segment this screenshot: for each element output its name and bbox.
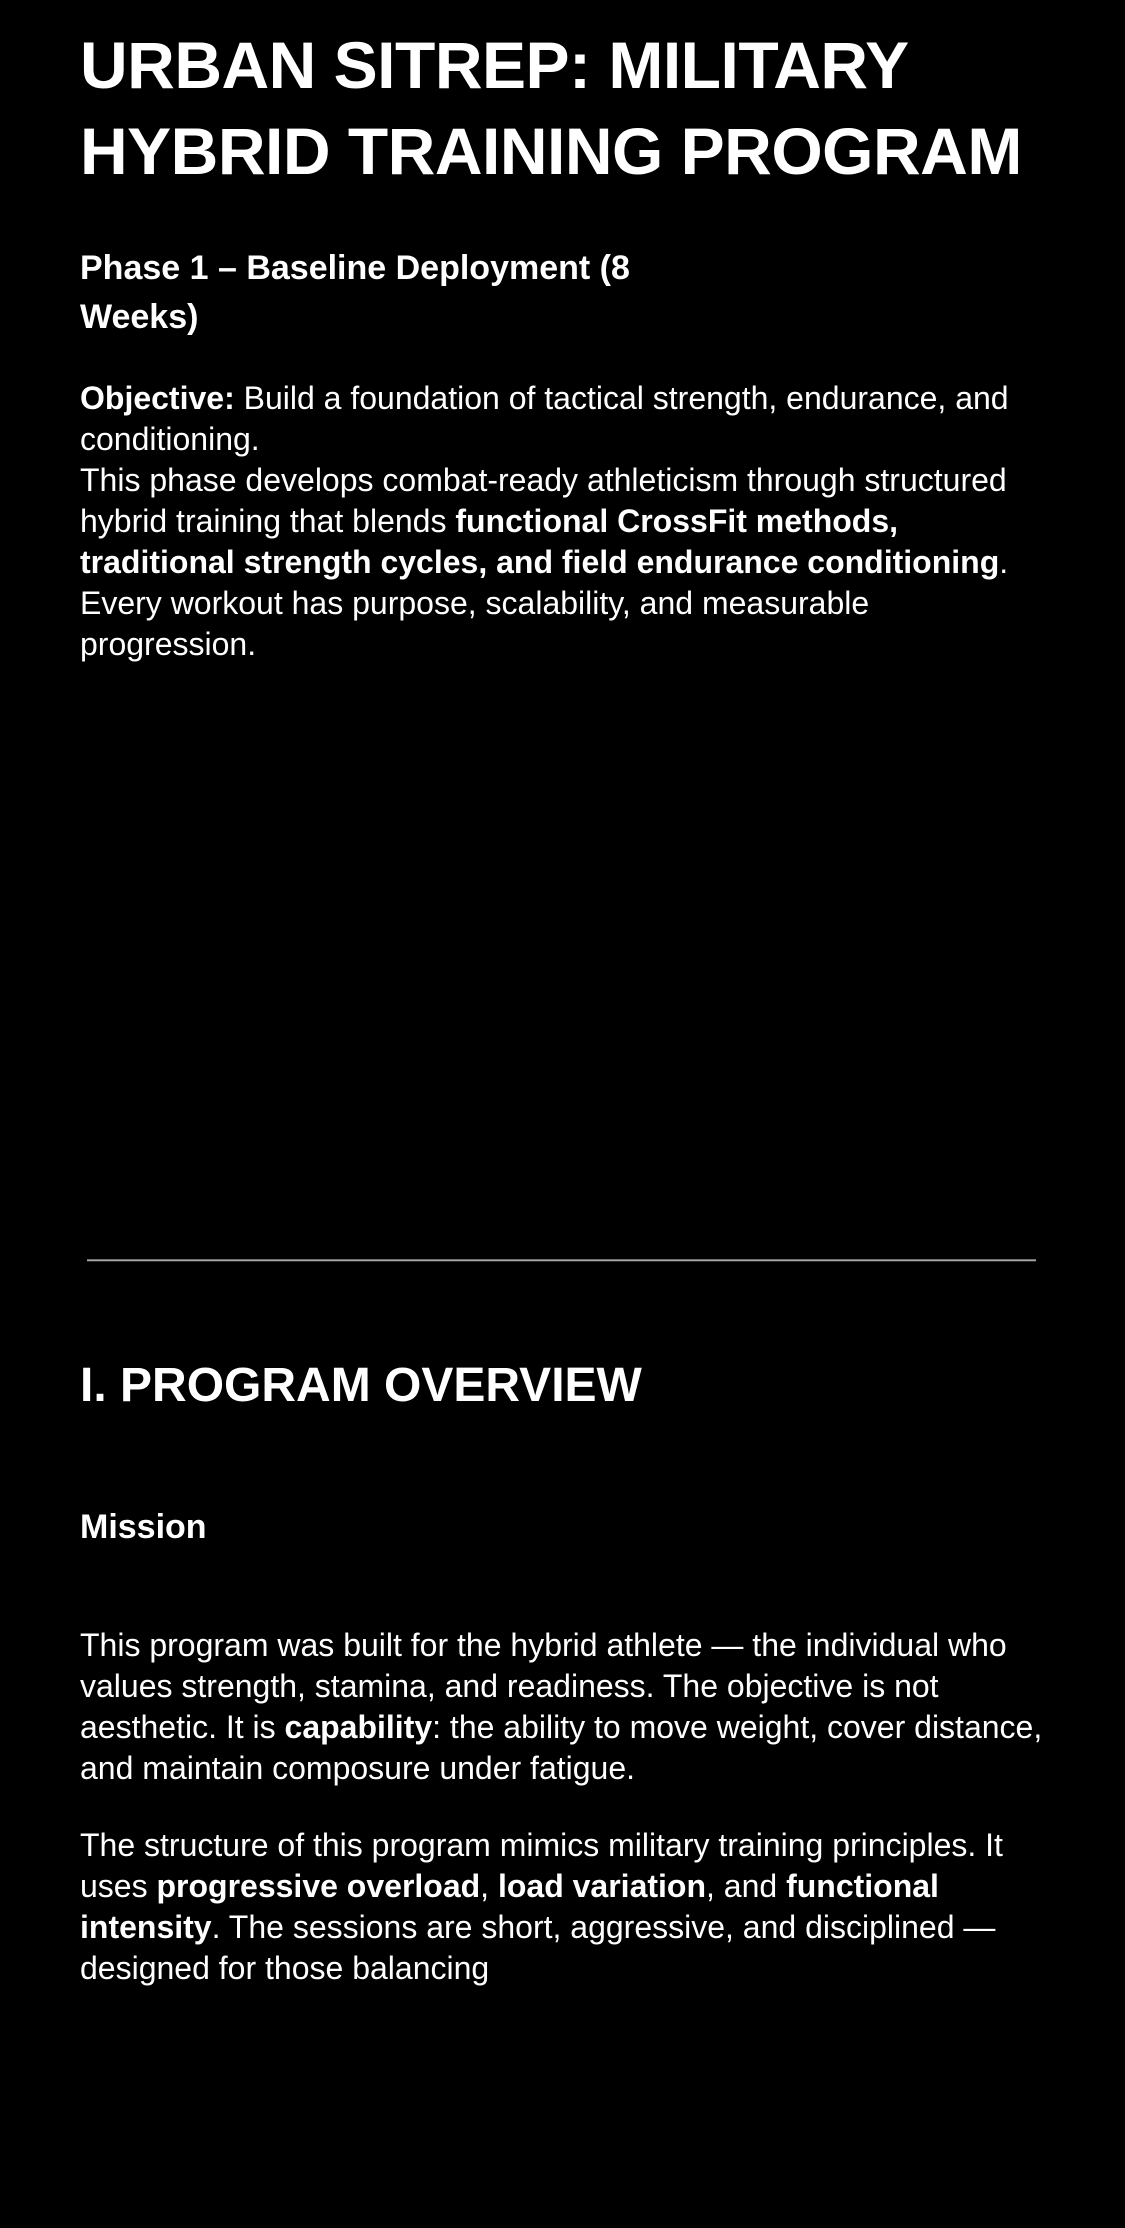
emphasis-run: capability: [285, 1709, 433, 1745]
section-divider: [87, 1259, 1036, 1262]
text-run: . The sessions are short, aggressive, an…: [80, 1909, 995, 1986]
emphasis-run: progressive overload: [156, 1868, 480, 1904]
phase-heading: Phase 1 – Baseline Deployment (8 Weeks): [80, 194, 700, 342]
text-run: , and: [706, 1868, 786, 1904]
text-run: ,: [480, 1868, 498, 1904]
mission-paragraph: The structure of this program mimics mil…: [80, 1825, 1045, 1989]
document-page: URBAN SITREP: MILITARY HYBRID TRAINING P…: [0, 0, 1125, 2228]
intro-tail: .: [999, 544, 1008, 580]
section-title-program-overview: I. PROGRAM OVERVIEW: [80, 1357, 642, 1415]
emphasis-run: load variation: [498, 1868, 706, 1904]
intro-closing: Every workout has purpose, scalability, …: [80, 585, 869, 662]
page-title: URBAN SITREP: MILITARY HYBRID TRAINING P…: [80, 0, 1040, 194]
sub-heading-mission: Mission: [80, 1505, 207, 1549]
objective-label: Objective:: [80, 380, 235, 416]
mission-paragraph: This program was built for the hybrid at…: [80, 1625, 1045, 1789]
objective-paragraph: Objective: Build a foundation of tactica…: [80, 342, 1040, 665]
mission-body: This program was built for the hybrid at…: [80, 1625, 1045, 1989]
